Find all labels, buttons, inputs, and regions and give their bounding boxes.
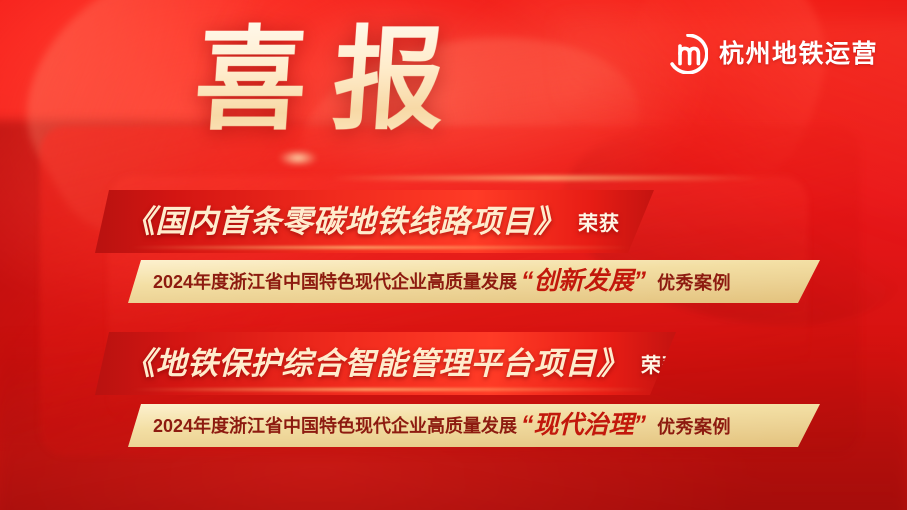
award-project-title-1: 《国内首条零碳地铁线路项目》 — [124, 206, 565, 237]
award-suffix-1: 荣获 — [578, 207, 620, 236]
award-honor-band-2: 2024年度浙江省中国特色现代企业高质量发展 “现代治理” 优秀案例 — [128, 404, 820, 447]
poster-canvas: 杭州地铁运营 喜报 《国内首条零碳地铁线路项目》 荣获 2024年度浙江省中国特… — [0, 0, 907, 510]
brand-logo: 杭州地铁运营 — [668, 34, 878, 74]
award-title-band-2: 《地铁保护综合智能管理平台项目》 荣获 — [95, 332, 676, 395]
award-title-band-1: 《国内首条零碳地铁线路项目》 荣获 — [95, 190, 654, 253]
hangzhou-metro-circle-logo-icon — [668, 34, 708, 74]
award-honor-band-1: 2024年度浙江省中国特色现代企业高质量发展 “创新发展” 优秀案例 — [128, 260, 820, 303]
page-title: 喜报 — [0, 22, 644, 140]
award-honor-emphasis-1: “创新发展” — [521, 269, 646, 294]
award-project-title-2: 《地铁保护综合智能管理平台项目》 — [124, 348, 628, 379]
award-honor-suffix-1: 优秀案例 — [657, 269, 731, 295]
award-honor-prefix-1: 2024年度浙江省中国特色现代企业高质量发展 — [153, 273, 517, 291]
award-honor-emphasis-2: “现代治理” — [521, 413, 646, 438]
brand-name: 杭州地铁运营 — [719, 42, 878, 67]
panel-edge-glow — [330, 176, 760, 180]
award-honor-suffix-2: 优秀案例 — [657, 413, 731, 439]
award-honor-prefix-2: 2024年度浙江省中国特色现代企业高质量发展 — [153, 417, 517, 435]
headline-glint — [278, 150, 318, 166]
award-suffix-2: 荣获 — [641, 349, 683, 378]
